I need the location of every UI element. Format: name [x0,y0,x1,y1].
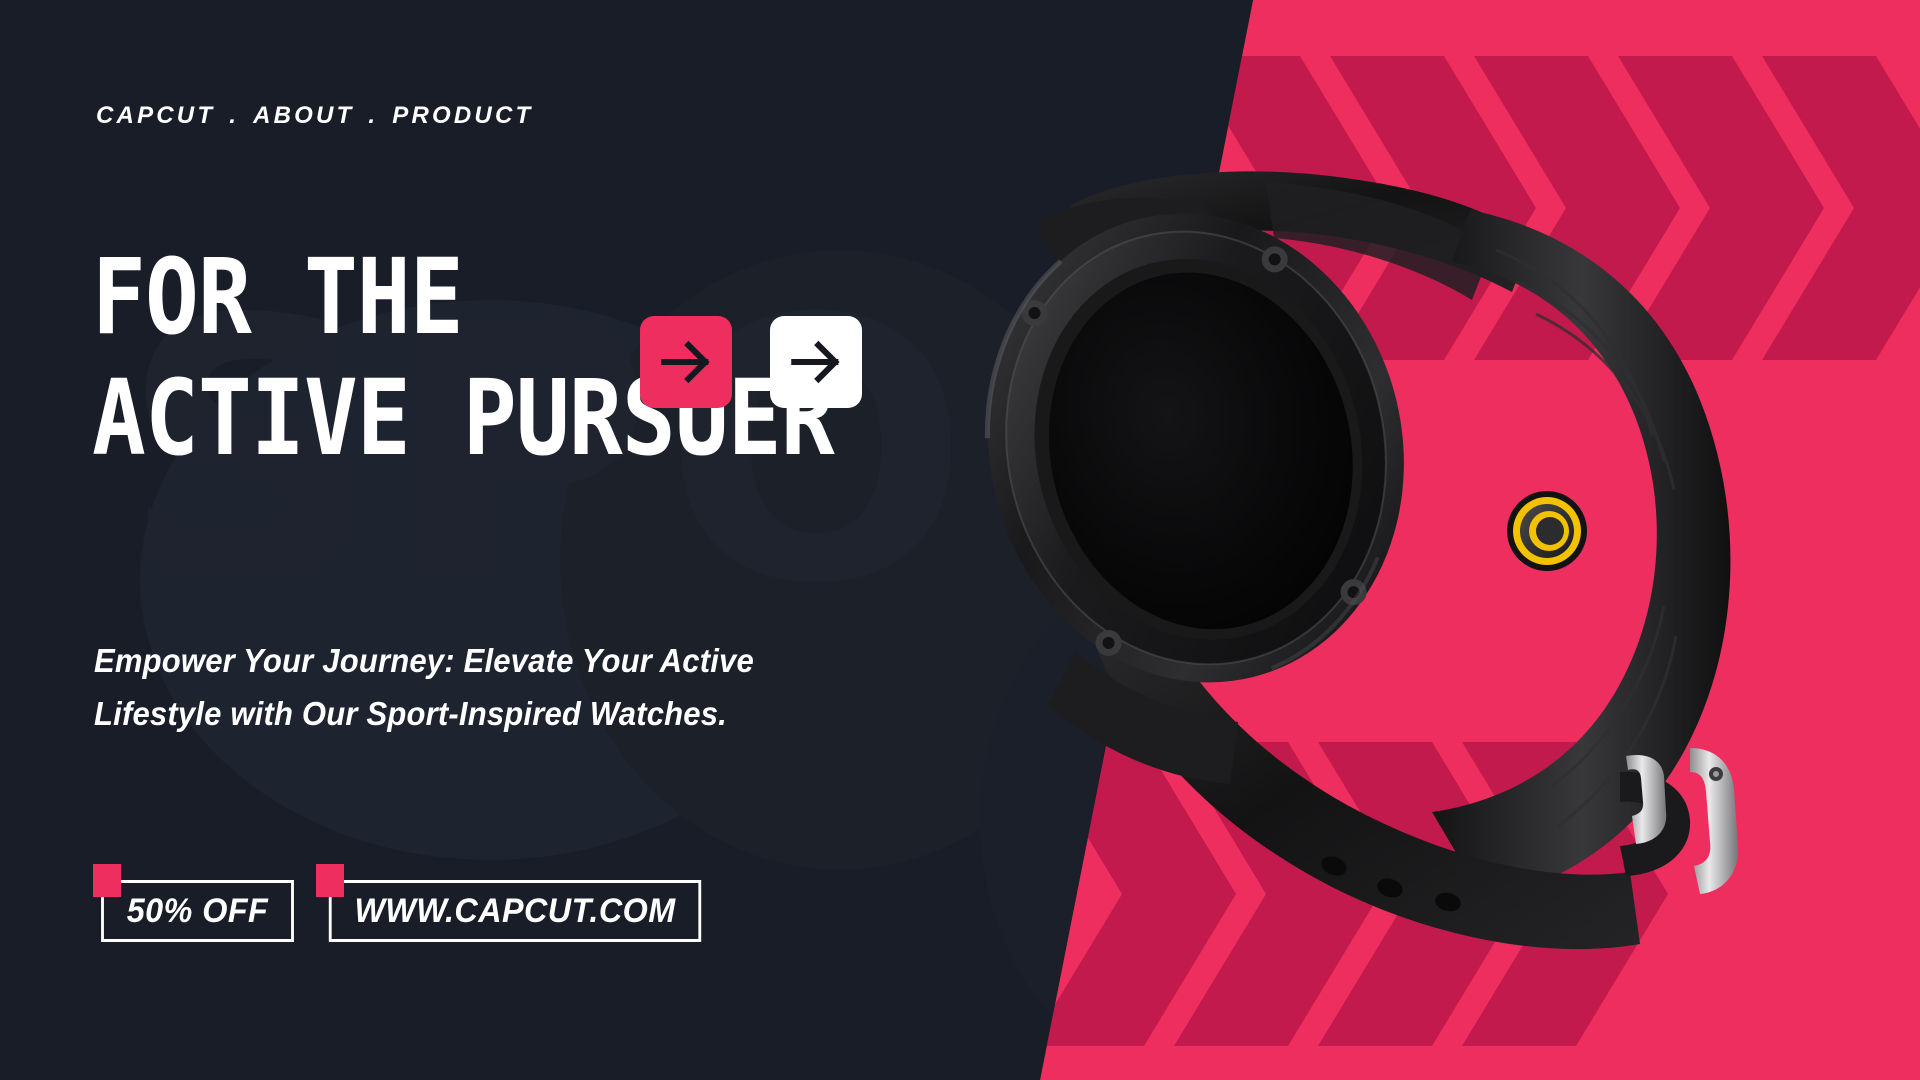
nav-item-capcut[interactable]: CAPCUT [96,102,215,130]
badge-website[interactable]: WWW.CAPCUT.COM [319,880,711,942]
badge-discount-label: 50% OFF [127,892,269,931]
nav-separator: . [354,102,392,130]
subtitle-line-2: Lifestyle with Our Sport-Inspired Watche… [94,695,727,732]
badge-row: 50% OFF WWW.CAPCUT.COM [96,880,711,942]
badge-corner-accent [316,864,344,897]
top-navigation: CAPCUT . ABOUT . PRODUCT [96,102,533,130]
cta-arrow-button-primary[interactable] [640,316,732,408]
subtitle-line-1: Empower Your Journey: Elevate Your Activ… [94,642,754,679]
hero-subtitle: Empower Your Journey: Elevate Your Activ… [94,634,771,741]
nav-item-about[interactable]: ABOUT [253,102,354,130]
arrow-right-icon [657,333,715,391]
badge-corner-accent [93,864,121,897]
nav-item-product[interactable]: PRODUCT [392,102,533,130]
hero-banner: SPO [0,0,1920,1080]
badge-website-label: WWW.CAPCUT.COM [354,892,675,931]
nav-separator: . [215,102,253,130]
arrow-right-icon [787,333,845,391]
cta-arrow-button-secondary[interactable] [770,316,862,408]
badge-discount[interactable]: 50% OFF [96,880,299,942]
